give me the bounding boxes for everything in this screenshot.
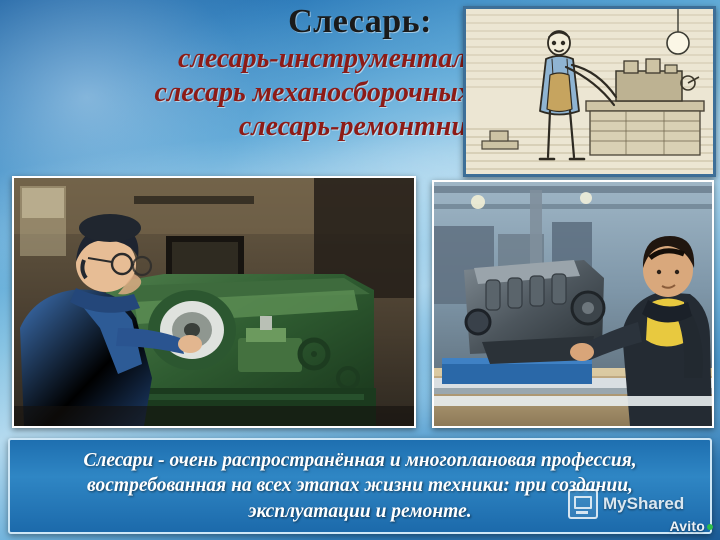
presentation-slide: Слесарь: слесарь-инструментальщик; слеса… (0, 0, 720, 540)
caption-bar: Слесари - очень распространённая и много… (8, 438, 712, 534)
engine-scene (434, 182, 712, 426)
caption-text: Слесари - очень распространённая и много… (83, 448, 636, 524)
caption-line-3: эксплуатации и ремонте. (83, 499, 636, 524)
caption-line-1: Слесари - очень распространённая и много… (83, 448, 636, 473)
caption-line-2: востребованная на всех этапах жизни техн… (83, 473, 636, 498)
worker-at-lathe-image (12, 176, 416, 428)
engine-assembly-image (432, 180, 714, 428)
engraving-illustration (466, 9, 713, 174)
lathe-scene (14, 178, 414, 426)
engraving-metalworker-image (463, 6, 716, 177)
